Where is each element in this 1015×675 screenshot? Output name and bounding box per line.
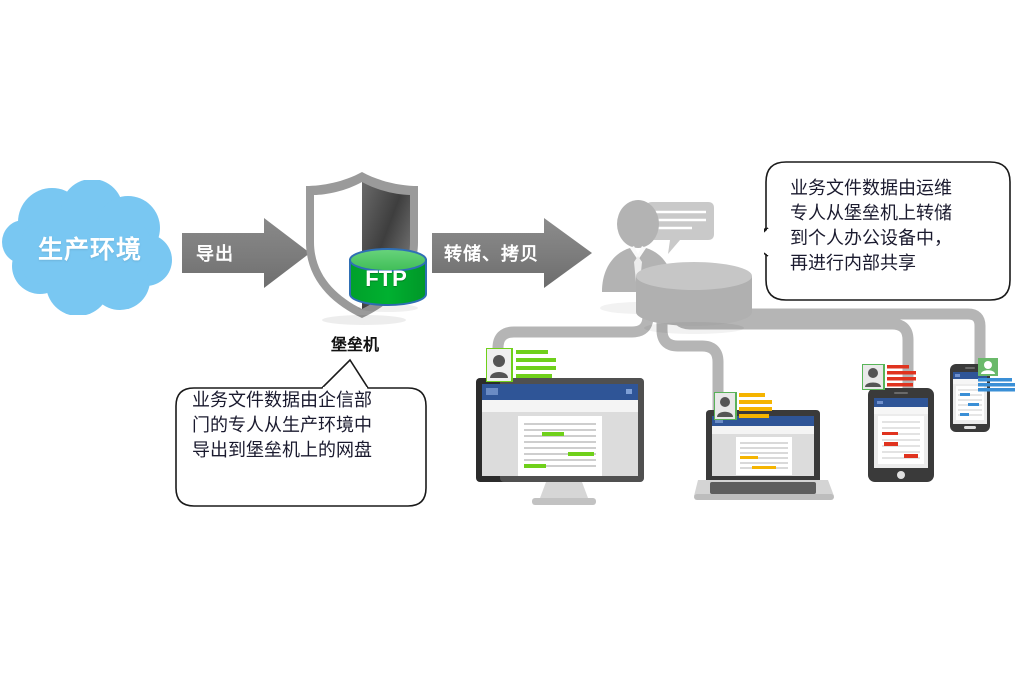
contact-card-icon [978, 358, 1015, 392]
central-storage-cylinder [632, 258, 756, 336]
desktop-monitor-device [474, 376, 654, 508]
callout-operations-text: 业务文件数据由运维 专人从堡垒机上转储 到个人办公设备中， 再进行内部共享 [790, 176, 1000, 276]
diagram-canvas: 生产环境 导出 [0, 0, 1015, 675]
bastion-host-label: 堡垒机 [310, 331, 400, 355]
ftp-label: FTP [352, 262, 420, 296]
contact-card-icon [862, 364, 916, 390]
tablet-device [866, 386, 938, 484]
transfer-copy-arrow-label: 转储、拷贝 [432, 218, 592, 288]
contact-card-icon [486, 348, 558, 382]
callout-export: 业务文件数据由企信部 门的专人从生产环境中 导出到堡垒机上的网盘 [172, 358, 430, 510]
laptop-device [694, 408, 834, 508]
transfer-copy-arrow: 转储、拷贝 [432, 218, 592, 288]
browser-titlebar [482, 384, 638, 400]
contact-card-icon [714, 392, 774, 420]
callout-operations: 业务文件数据由运维 专人从堡垒机上转储 到个人办公设备中， 再进行内部共享 [764, 160, 1012, 302]
export-arrow: 导出 [182, 218, 310, 288]
callout-export-text: 业务文件数据由企信部 门的专人从生产环境中 导出到堡垒机上的网盘 [192, 388, 414, 463]
export-arrow-label: 导出 [182, 218, 310, 288]
cloud-label: 生产环境 [0, 180, 180, 315]
production-environment-cloud: 生产环境 [0, 180, 180, 315]
